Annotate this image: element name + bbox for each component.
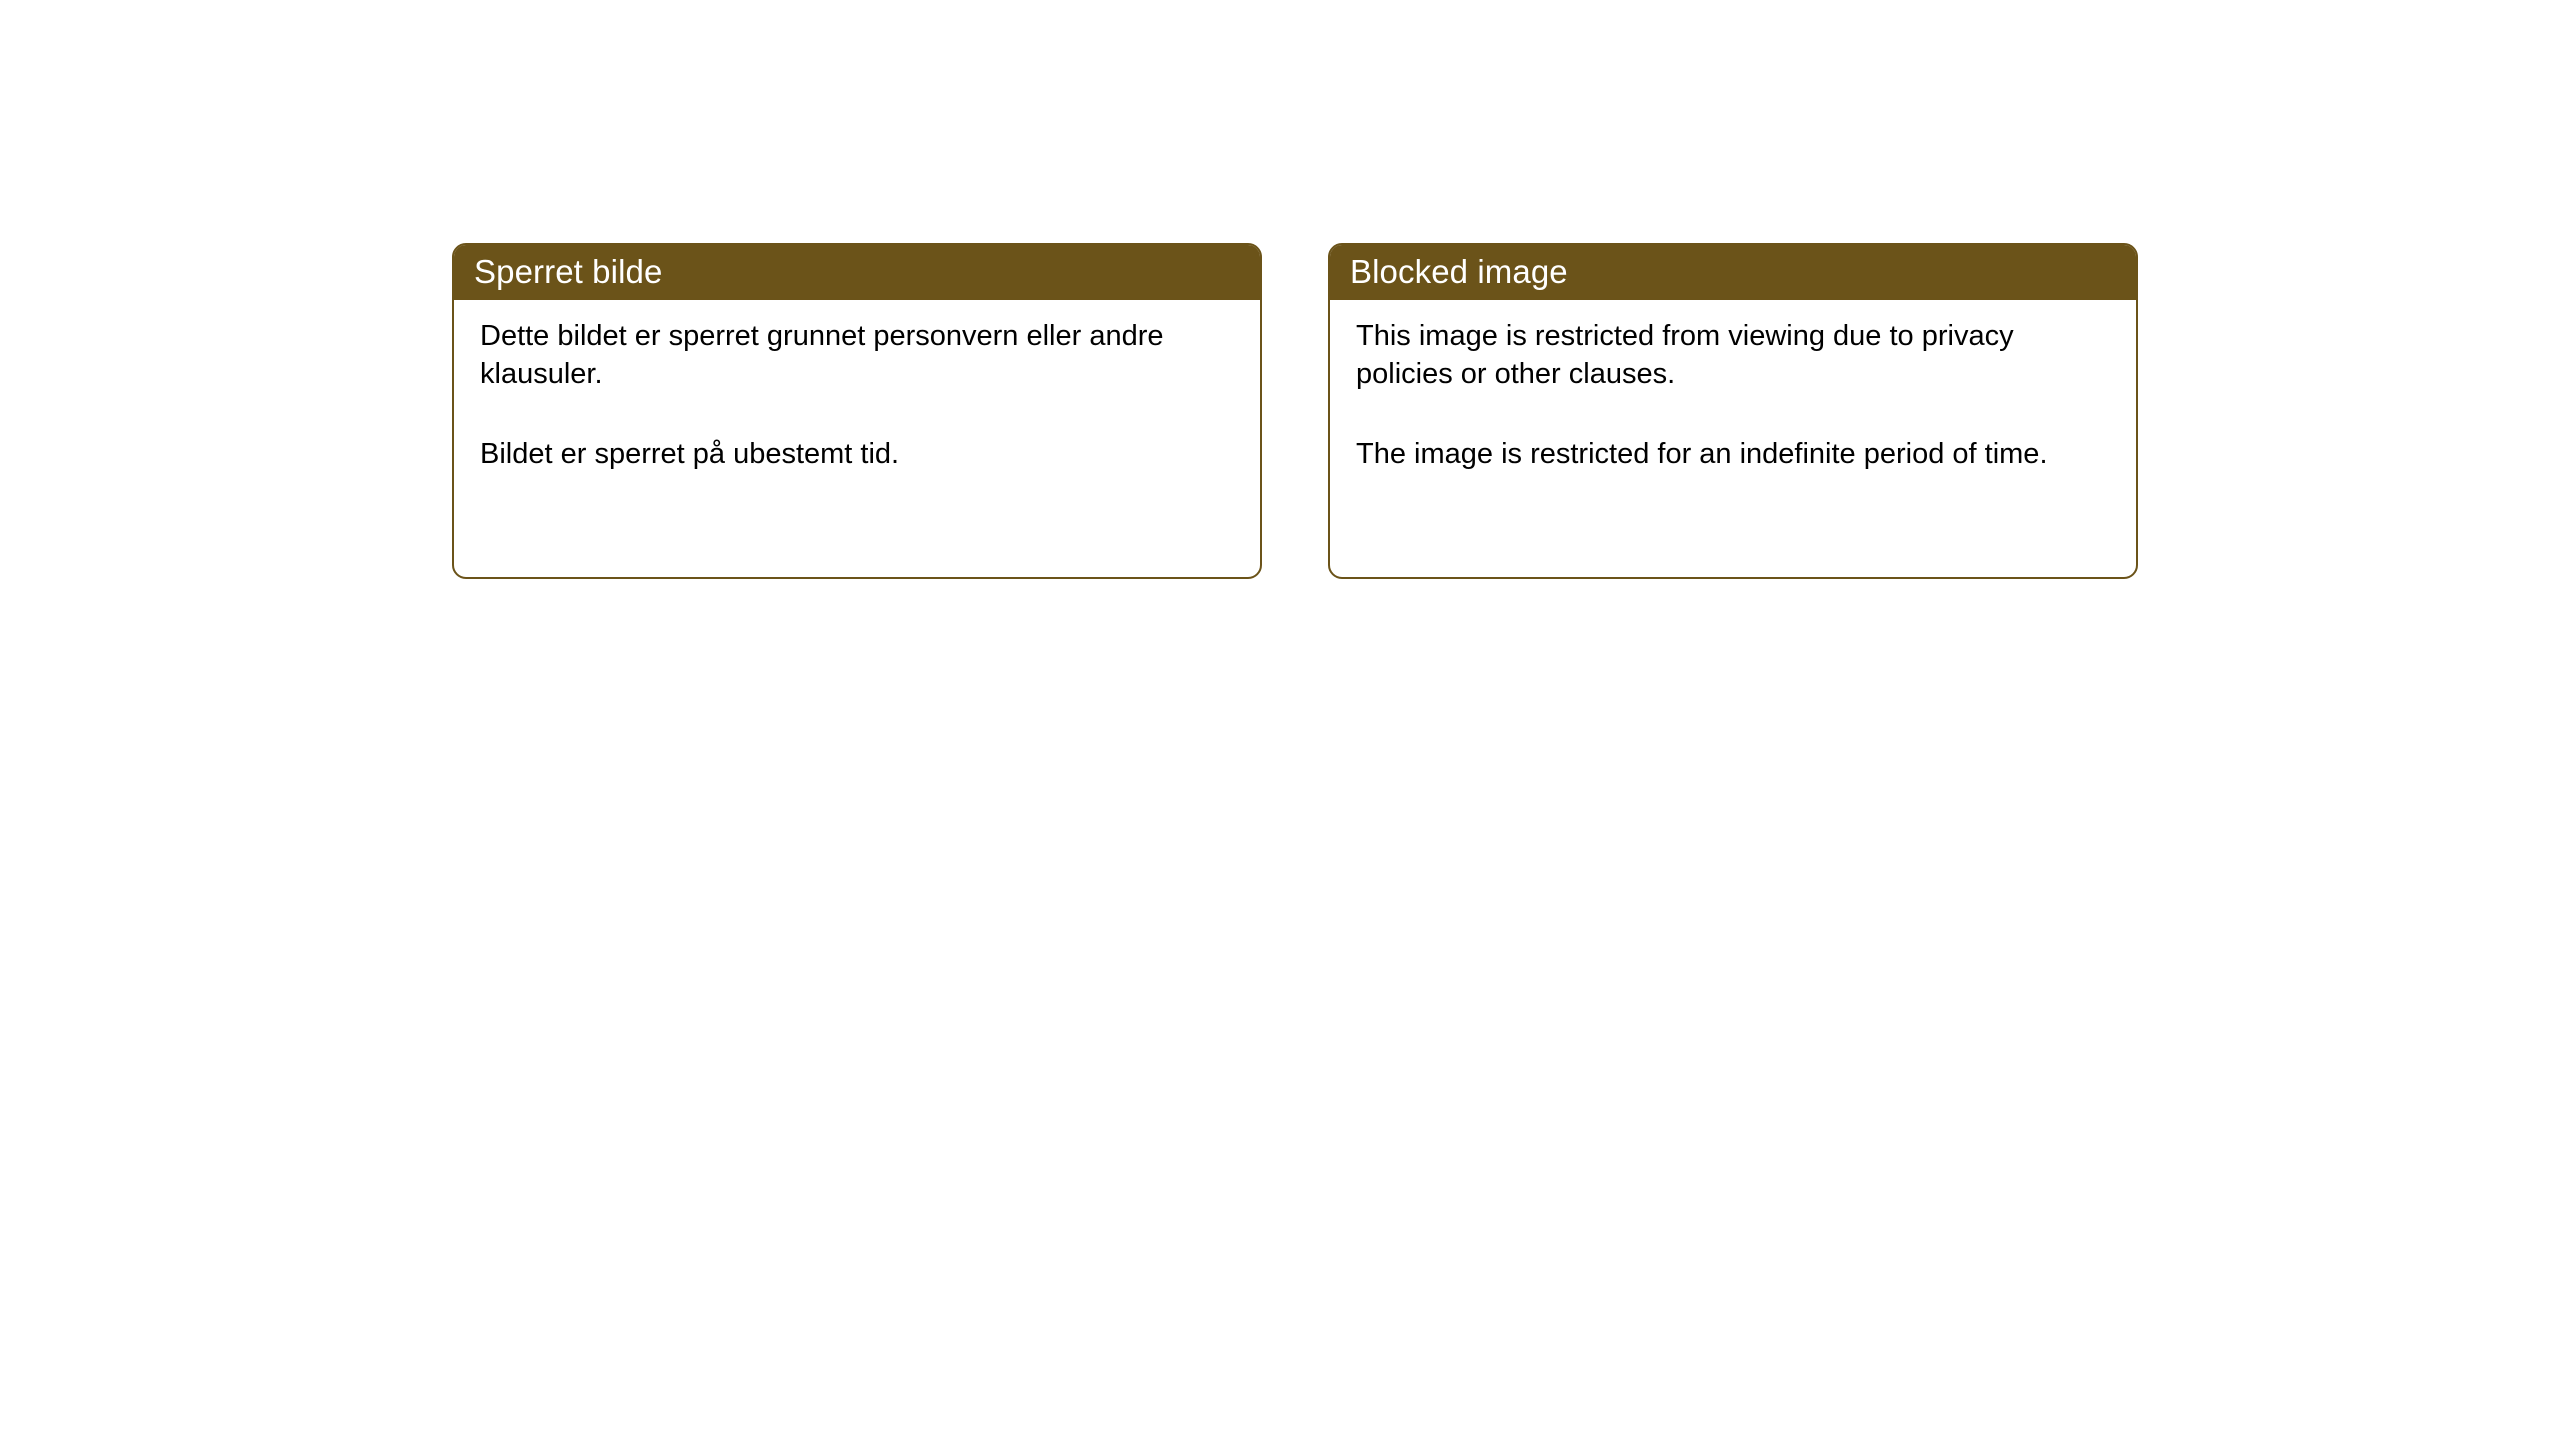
panel-body-norwegian: Dette bildet er sperret grunnet personve… (454, 300, 1260, 494)
notice-paragraph-duration-english: The image is restricted for an indefinit… (1356, 436, 2110, 474)
page-title-english: Blocked image (1350, 255, 1568, 288)
page-title: Sperret bilde (474, 255, 662, 288)
notice-paragraph-primary-english: This image is restricted from viewing du… (1356, 318, 2110, 393)
notice-paragraph-primary: Dette bildet er sperret grunnet personve… (480, 318, 1234, 393)
blocked-image-panel-norwegian: Sperret bilde Dette bildet er sperret gr… (452, 243, 1262, 579)
panel-header-english: Blocked image (1328, 243, 2138, 300)
notice-paragraph-duration: Bildet er sperret på ubestemt tid. (480, 436, 1234, 474)
panel-body-english: This image is restricted from viewing du… (1330, 300, 2136, 494)
panel-header-norwegian: Sperret bilde (452, 243, 1262, 300)
blocked-image-panel-english: Blocked image This image is restricted f… (1328, 243, 2138, 579)
blocked-image-notice-stage: Sperret bilde Dette bildet er sperret gr… (0, 0, 2560, 1440)
